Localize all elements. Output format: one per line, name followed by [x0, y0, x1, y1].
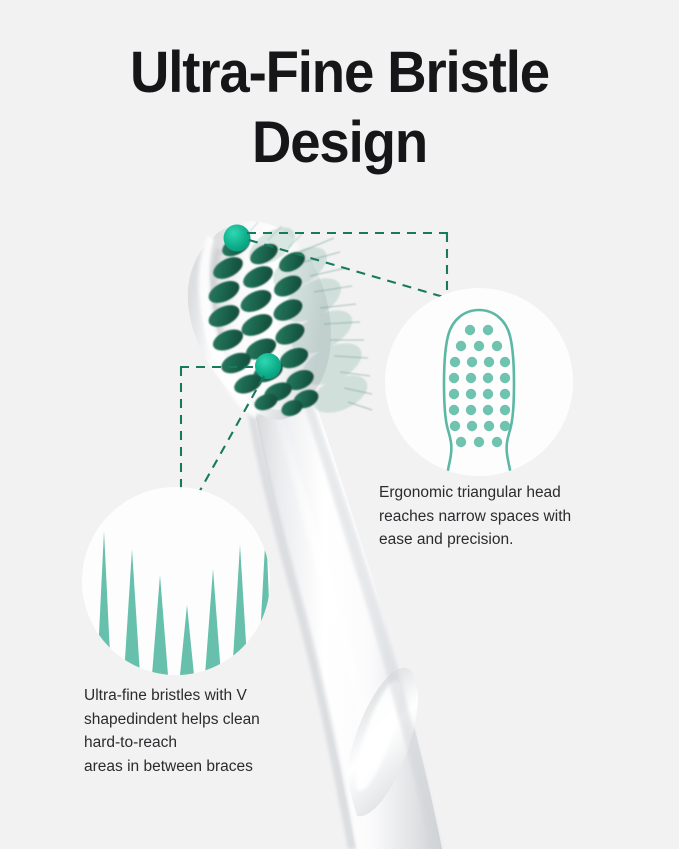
- bristle-hole-grid: [449, 325, 510, 447]
- triangular-head-diagram: [385, 288, 573, 476]
- callout-triangular-head: [385, 288, 573, 476]
- caption-ultra-fine-bristles: Ultra-fine bristles with V shapedindent …: [84, 684, 299, 778]
- bristle-tip-marker[interactable]: [224, 225, 251, 252]
- caption-ergonomic-head: Ergonomic triangular head reaches narrow…: [379, 481, 609, 552]
- bristle-spikes: [97, 527, 270, 675]
- product-feature-infographic: Ultra-Fine Bristle Design: [0, 0, 679, 849]
- head-base-marker[interactable]: [255, 353, 281, 379]
- v-shaped-bristle-diagram: [82, 487, 270, 675]
- callout-v-shaped-bristles: [82, 487, 270, 675]
